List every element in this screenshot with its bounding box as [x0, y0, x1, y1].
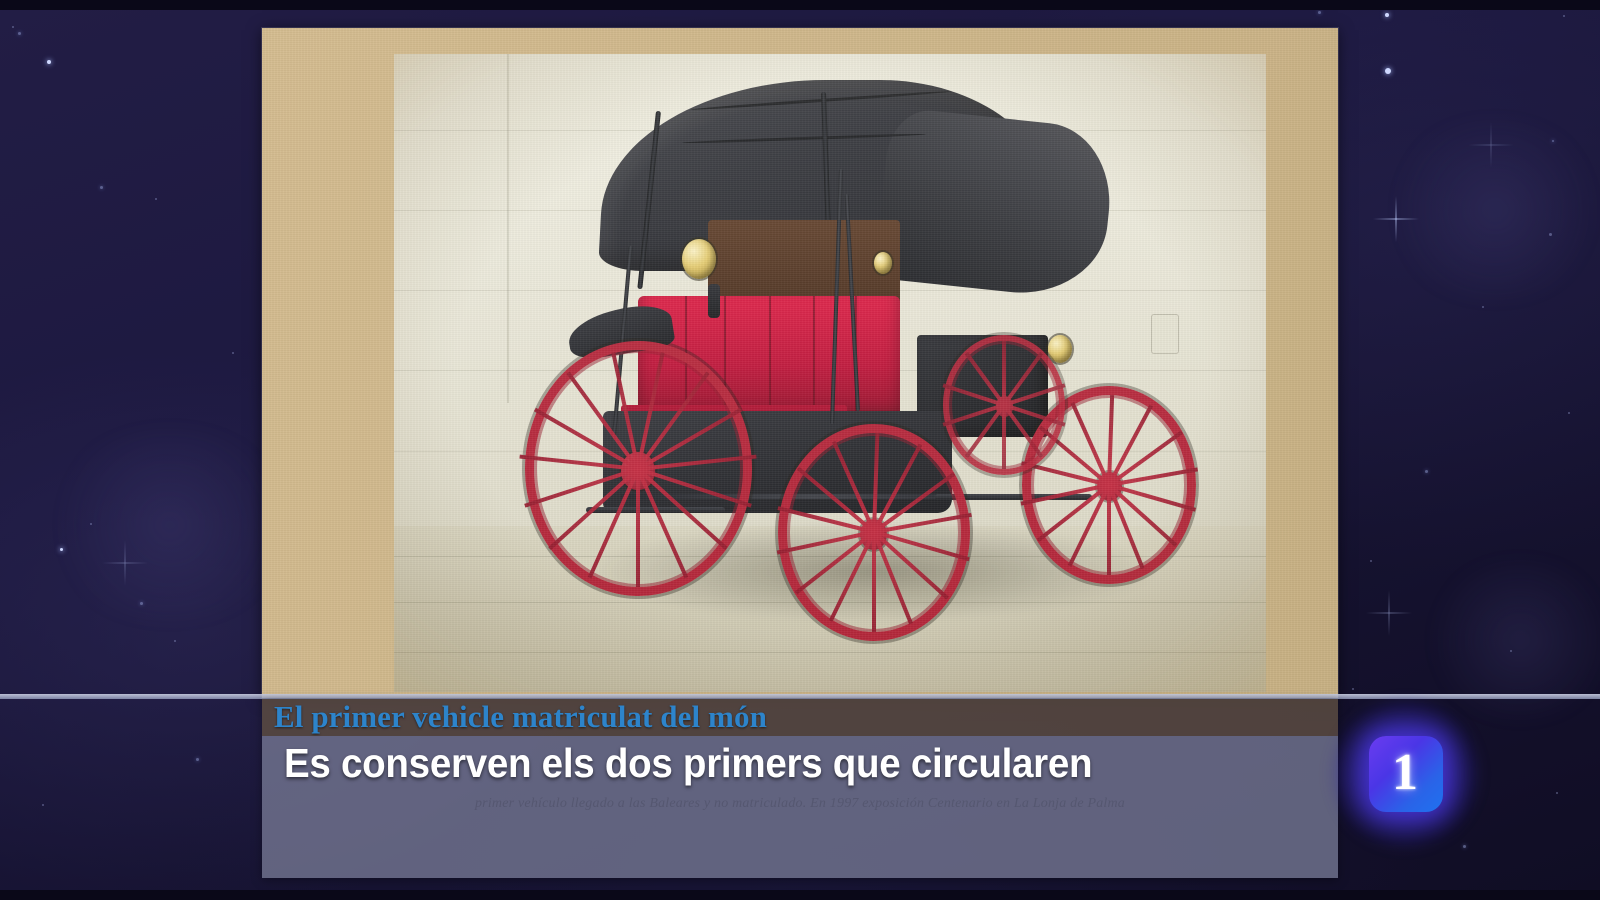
channel-number: 1	[1357, 726, 1453, 822]
rear-wheel-right	[943, 335, 1065, 475]
rear-wheel-left	[525, 341, 752, 596]
letterbox-top	[0, 0, 1600, 10]
lower-third-banner: El primer vehicle matriculat del món Es …	[262, 699, 1338, 878]
photo-plate	[262, 28, 1338, 698]
star-sparkle	[1490, 122, 1492, 168]
lower-third-headline: Es conserven els dos primers que circula…	[284, 739, 1092, 787]
broadcast-frame: El primer vehicle matriculat del món Es …	[0, 0, 1600, 900]
star-sparkle	[1388, 590, 1390, 636]
brass-horn	[1048, 335, 1072, 363]
photo-caption: primer vehículo llegado a las Baleares y…	[262, 795, 1338, 813]
lower-third-kicker: El primer vehicle matriculat del món	[252, 698, 1342, 735]
letterbox-bottom	[0, 890, 1600, 900]
historic-automobile-photo	[394, 54, 1266, 692]
canopy-flap	[874, 106, 1117, 301]
brass-headlamp	[682, 239, 716, 279]
brass-sidelamp	[874, 252, 892, 274]
channel-logo-bug: 1	[1357, 726, 1453, 822]
star-sparkle	[1395, 196, 1397, 242]
antique-automobile	[394, 54, 1266, 692]
front-wheel-left	[778, 424, 970, 641]
star-sparkle	[124, 540, 126, 586]
